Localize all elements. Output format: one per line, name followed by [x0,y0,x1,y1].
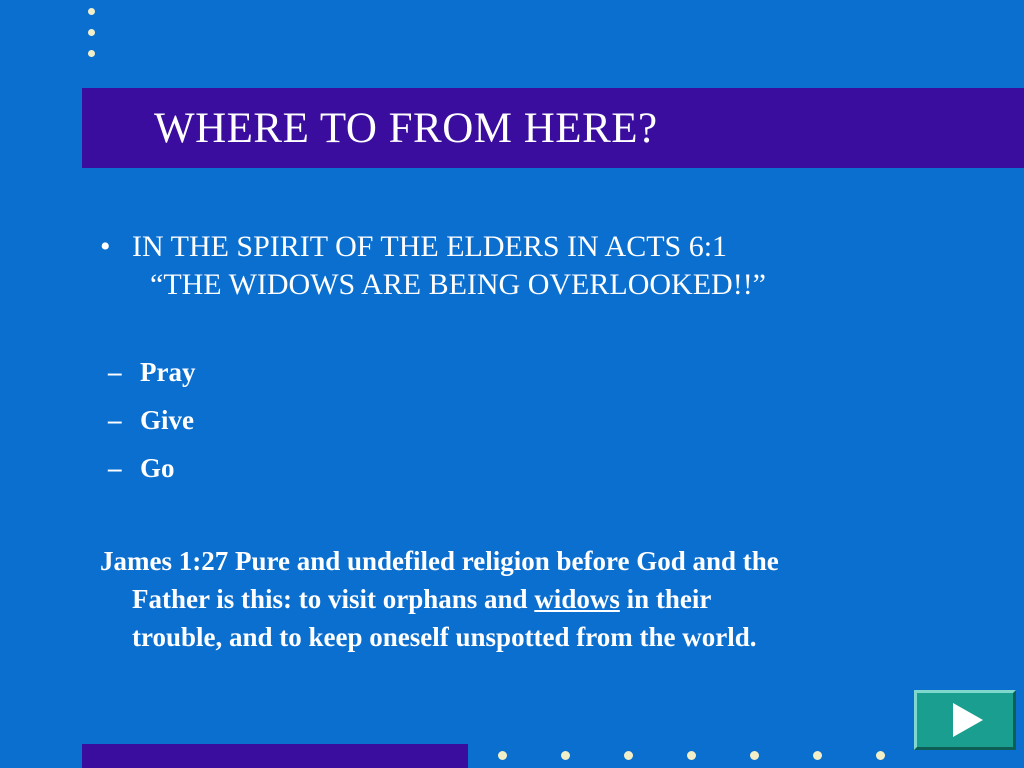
footer-dot-icon [876,751,885,760]
bullet-dot-icon [88,29,95,36]
scripture-quote: James 1:27 Pure and undefiled religion b… [100,542,980,657]
footer-dot-icon [498,751,507,760]
list-item: – Pray [100,357,990,388]
list-item-label: Give [140,405,194,436]
level1-text: IN THE SPIRIT OF THE ELDERS IN ACTS 6:1 … [130,228,990,305]
bullet-point-icon: • [100,228,130,266]
footer-dot-icon [624,751,633,760]
footer-dot-icon [561,751,570,760]
bullet-dot-icon [88,8,95,15]
dash-bullet-icon: – [108,453,140,484]
bullet-dot-icon [88,50,95,57]
list-item-label: Go [140,453,175,484]
dash-bullet-icon: – [108,405,140,436]
verse-line2: Father is this: to visit orphans and wid… [100,580,980,618]
dash-bullet-icon: – [108,357,140,388]
corner-bullet-dots [88,8,95,57]
list-item-label: Pray [140,357,195,388]
level1-line2: “THE WIDOWS ARE BEING OVERLOOKED!!” [132,266,990,304]
footer-accent-bar [82,744,468,768]
play-triangle-icon [953,703,983,737]
title-bar: WHERE TO FROM HERE? [82,88,1024,168]
sub-bullet-list: – Pray – Give – Go [100,357,990,484]
verse-line3: trouble, and to keep oneself unspotted f… [100,618,980,656]
slide-body: • IN THE SPIRIT OF THE ELDERS IN ACTS 6:… [100,228,990,657]
next-slide-button[interactable] [914,690,1016,750]
level1-bullet-item: • IN THE SPIRIT OF THE ELDERS IN ACTS 6:… [100,228,990,305]
level1-line1: IN THE SPIRIT OF THE ELDERS IN ACTS 6:1 [132,230,727,263]
footer-dot-row [498,751,885,760]
verse-underlined-word: widows [534,584,620,614]
verse-line2-before: Father is this: to visit orphans and [132,584,534,614]
footer-dot-icon [687,751,696,760]
verse-line1: James 1:27 Pure and undefiled religion b… [100,546,779,576]
slide: WHERE TO FROM HERE? • IN THE SPIRIT OF T… [0,0,1024,768]
page-title: WHERE TO FROM HERE? [82,104,658,153]
footer-dot-icon [813,751,822,760]
list-item: – Go [100,453,990,484]
footer-dot-icon [750,751,759,760]
verse-line2-after: in their [620,584,712,614]
list-item: – Give [100,405,990,436]
